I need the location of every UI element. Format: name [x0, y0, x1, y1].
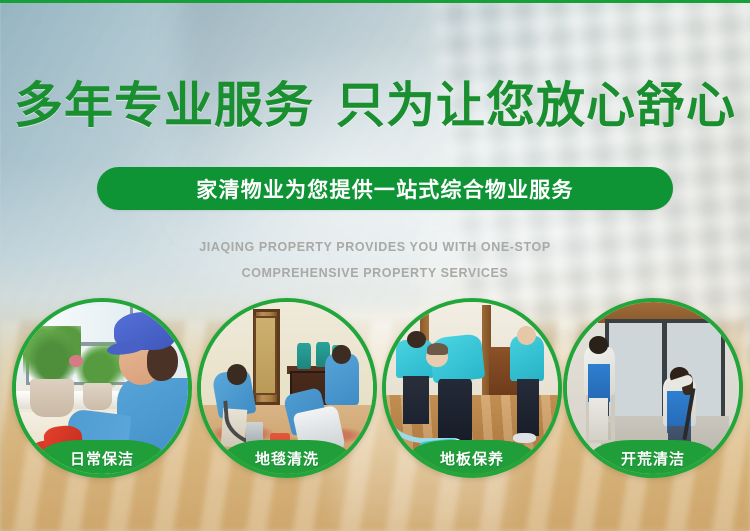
- service-label: 开荒清洁: [621, 448, 685, 469]
- promo-banner: 多年专业服务只为让您放心舒心 家清物业为您提供一站式综合物业服务 JIAQING…: [0, 0, 750, 531]
- service-badge: 地板保养: [409, 440, 535, 474]
- service-circle-daily-cleaning[interactable]: 日常保洁: [12, 298, 192, 478]
- service-circle-post-construction-cleaning[interactable]: 开荒清洁: [563, 298, 743, 478]
- service-badge: 地毯清洗: [224, 440, 350, 474]
- service-circle-carpet-cleaning[interactable]: 地毯清洗: [197, 298, 377, 478]
- service-badge: 日常保洁: [39, 440, 165, 474]
- service-label: 地毯清洗: [255, 448, 319, 469]
- top-green-rule: [0, 0, 750, 3]
- service-label: 地板保养: [440, 448, 504, 469]
- service-circle-floor-maintenance[interactable]: 地板保养: [382, 298, 562, 478]
- service-label: 日常保洁: [70, 448, 134, 469]
- service-circle-list: 日常保洁 地毯清洗: [0, 0, 750, 531]
- service-badge: 开荒清洁: [590, 440, 716, 474]
